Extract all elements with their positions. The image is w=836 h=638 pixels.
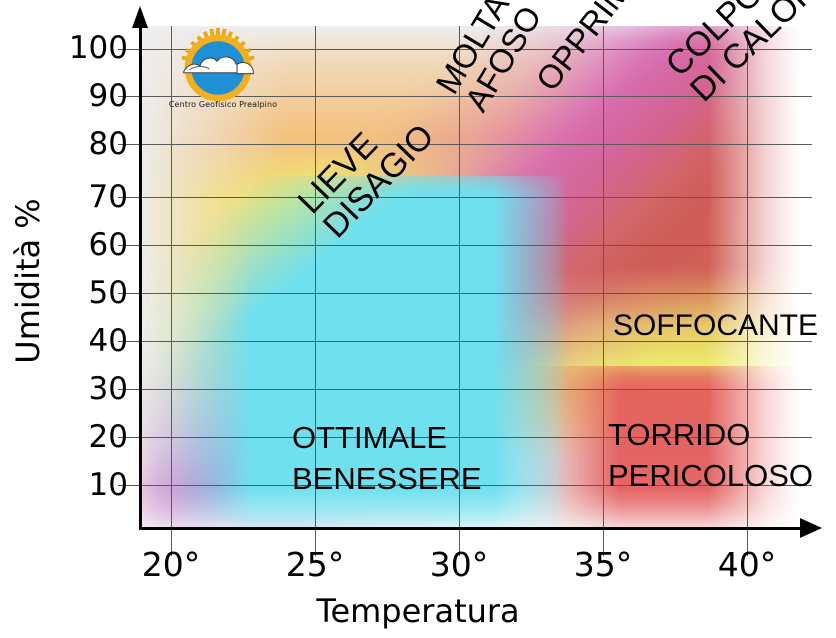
x-tick-40: 40°: [687, 548, 807, 581]
x-tick-20: 20°: [111, 548, 231, 581]
x-axis-arrow-icon: [800, 518, 822, 538]
y-axis-line: [139, 22, 142, 530]
x-tick-30: 30°: [399, 548, 519, 581]
y-tick-100: 100: [32, 33, 128, 64]
gridline-h-60: [118, 245, 812, 246]
zone-label-line: BENESSERE: [292, 459, 482, 500]
gridline-h-80: [118, 144, 812, 145]
gridline-h-70: [118, 197, 812, 198]
y-tick-90: 90: [32, 81, 128, 112]
gridline-h-30: [118, 389, 812, 390]
zone-label-line: SOFFOCANTE: [613, 309, 818, 343]
y-tick-10: 10: [32, 470, 128, 501]
sun-cloud-logo-icon: [170, 26, 266, 108]
x-tick-35: 35°: [543, 548, 663, 581]
logo-caption: Centro Geofisico Prealpino: [168, 100, 278, 109]
x-axis-line: [140, 527, 806, 530]
x-tick-25: 25°: [255, 548, 375, 581]
gridline-v-35: [603, 26, 604, 556]
y-axis-arrow-icon: [132, 6, 148, 28]
y-axis-title: Umidità %: [9, 131, 47, 431]
zone-label-soffocante: SOFFOCANTE: [613, 309, 818, 343]
zone-label-torrido-pericoloso: TORRIDO PERICOLOSO: [608, 415, 813, 497]
zone-label-line: OTTIMALE: [292, 418, 482, 459]
zone-label-ottimale-benessere: OTTIMALE BENESSERE: [292, 418, 482, 500]
zone-label-line: PERICOLOSO: [608, 456, 813, 497]
heat-index-chart: LIEVE DISAGIO MOLTA CAUTELA AFOSO OPPRIM…: [0, 0, 836, 638]
x-axis-title: Temperatura: [0, 592, 836, 630]
gridline-h-50: [118, 293, 812, 294]
zone-label-line: TORRIDO: [608, 415, 813, 456]
